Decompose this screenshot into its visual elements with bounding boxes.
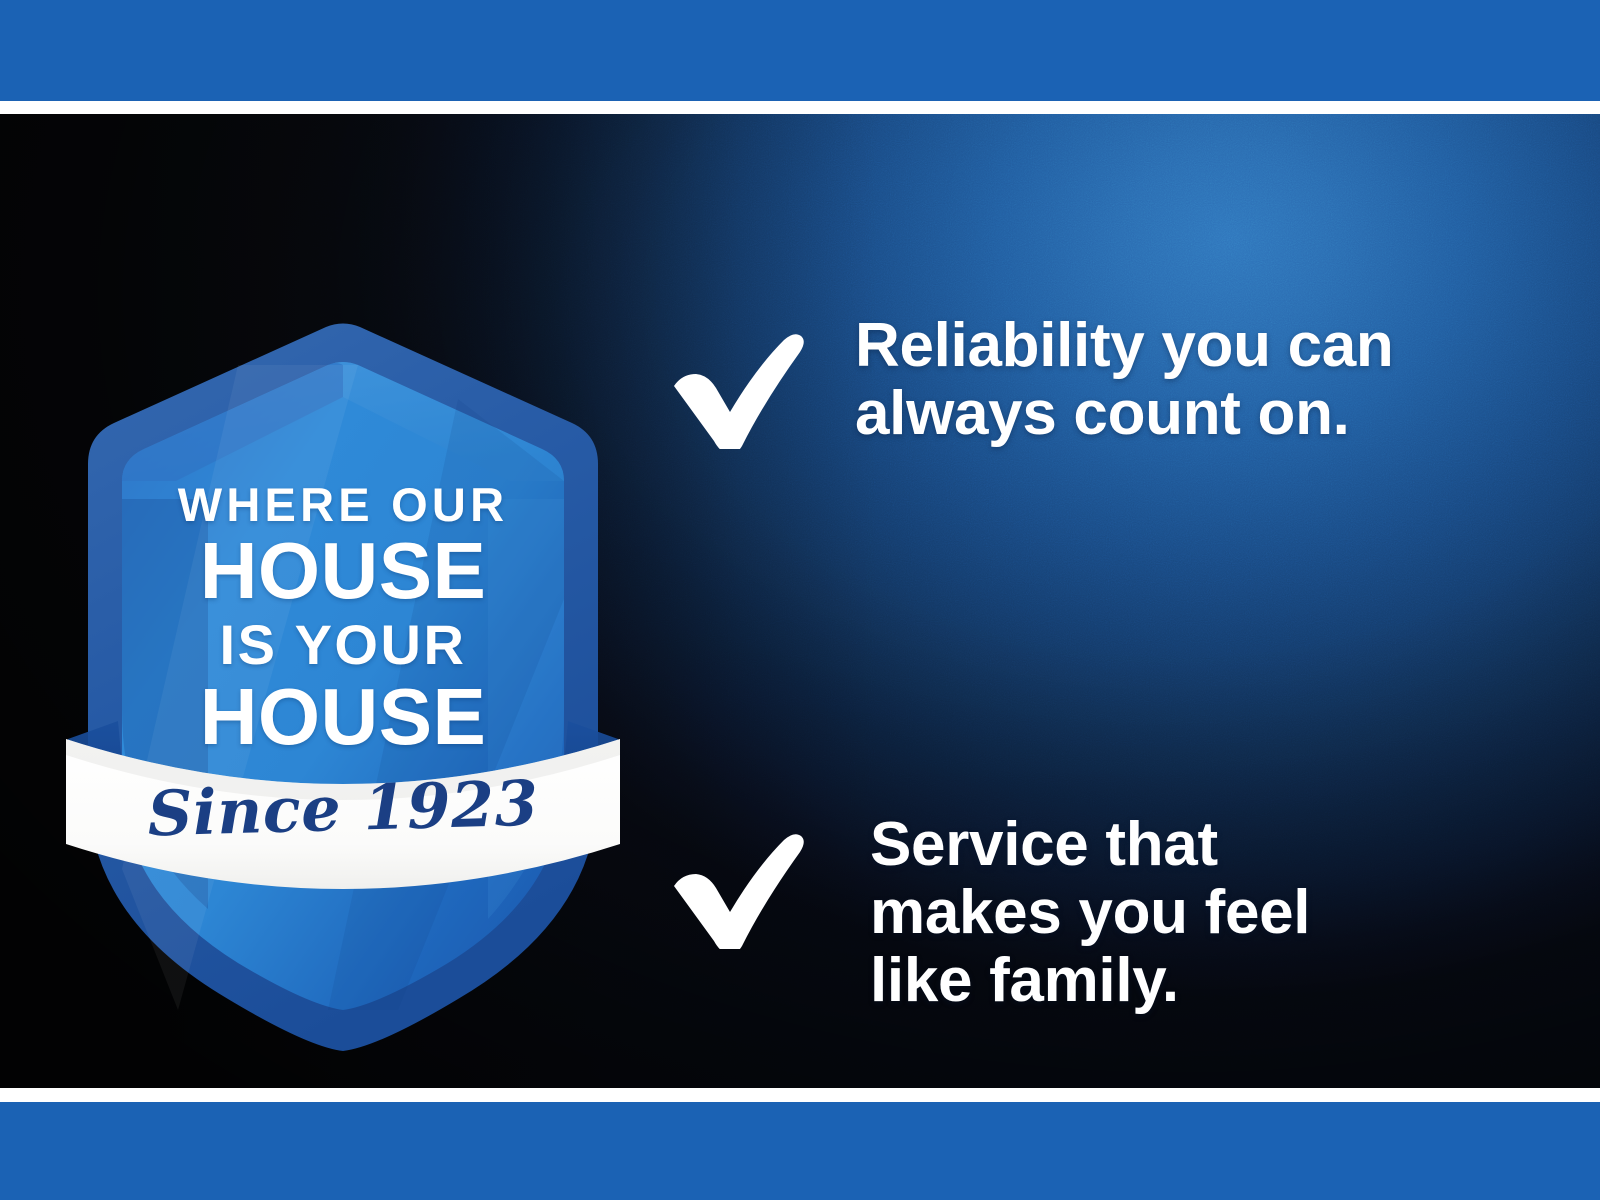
list-item-text: Conversations that feel like home.: [870, 849, 1520, 1088]
badge-line-2: HOUSE: [58, 531, 628, 611]
promo-graphic-canvas: WHERE OUR HOUSE IS YOUR HOUSE Since 1923…: [0, 0, 1600, 1200]
badge-line-1: WHERE OUR: [58, 481, 628, 528]
check-icon: [660, 324, 810, 449]
list-item-line: always count on.: [855, 380, 1520, 448]
bottom-brand-bar: [0, 1102, 1600, 1200]
top-white-divider: [0, 101, 1600, 114]
top-brand-bar: [0, 0, 1600, 101]
list-item-text: Reliability you can always count on.: [855, 304, 1520, 448]
badge-line-4: HOUSE: [58, 677, 628, 757]
main-stage: WHERE OUR HOUSE IS YOUR HOUSE Since 1923…: [0, 114, 1600, 1088]
bottom-white-divider: [0, 1088, 1600, 1102]
list-item-line: Reliability you can: [855, 312, 1520, 380]
list-item: Service that makes you feel like family.: [660, 559, 1520, 849]
list-item: Reliability you can always count on.: [660, 304, 1520, 559]
list-item: Conversations that feel like home.: [660, 849, 1520, 1088]
badge-line-3: IS YOUR: [58, 617, 628, 673]
company-shield-badge: WHERE OUR HOUSE IS YOUR HOUSE Since 1923: [58, 269, 628, 1069]
benefits-list: Reliability you can always count on. Ser…: [660, 304, 1520, 1088]
